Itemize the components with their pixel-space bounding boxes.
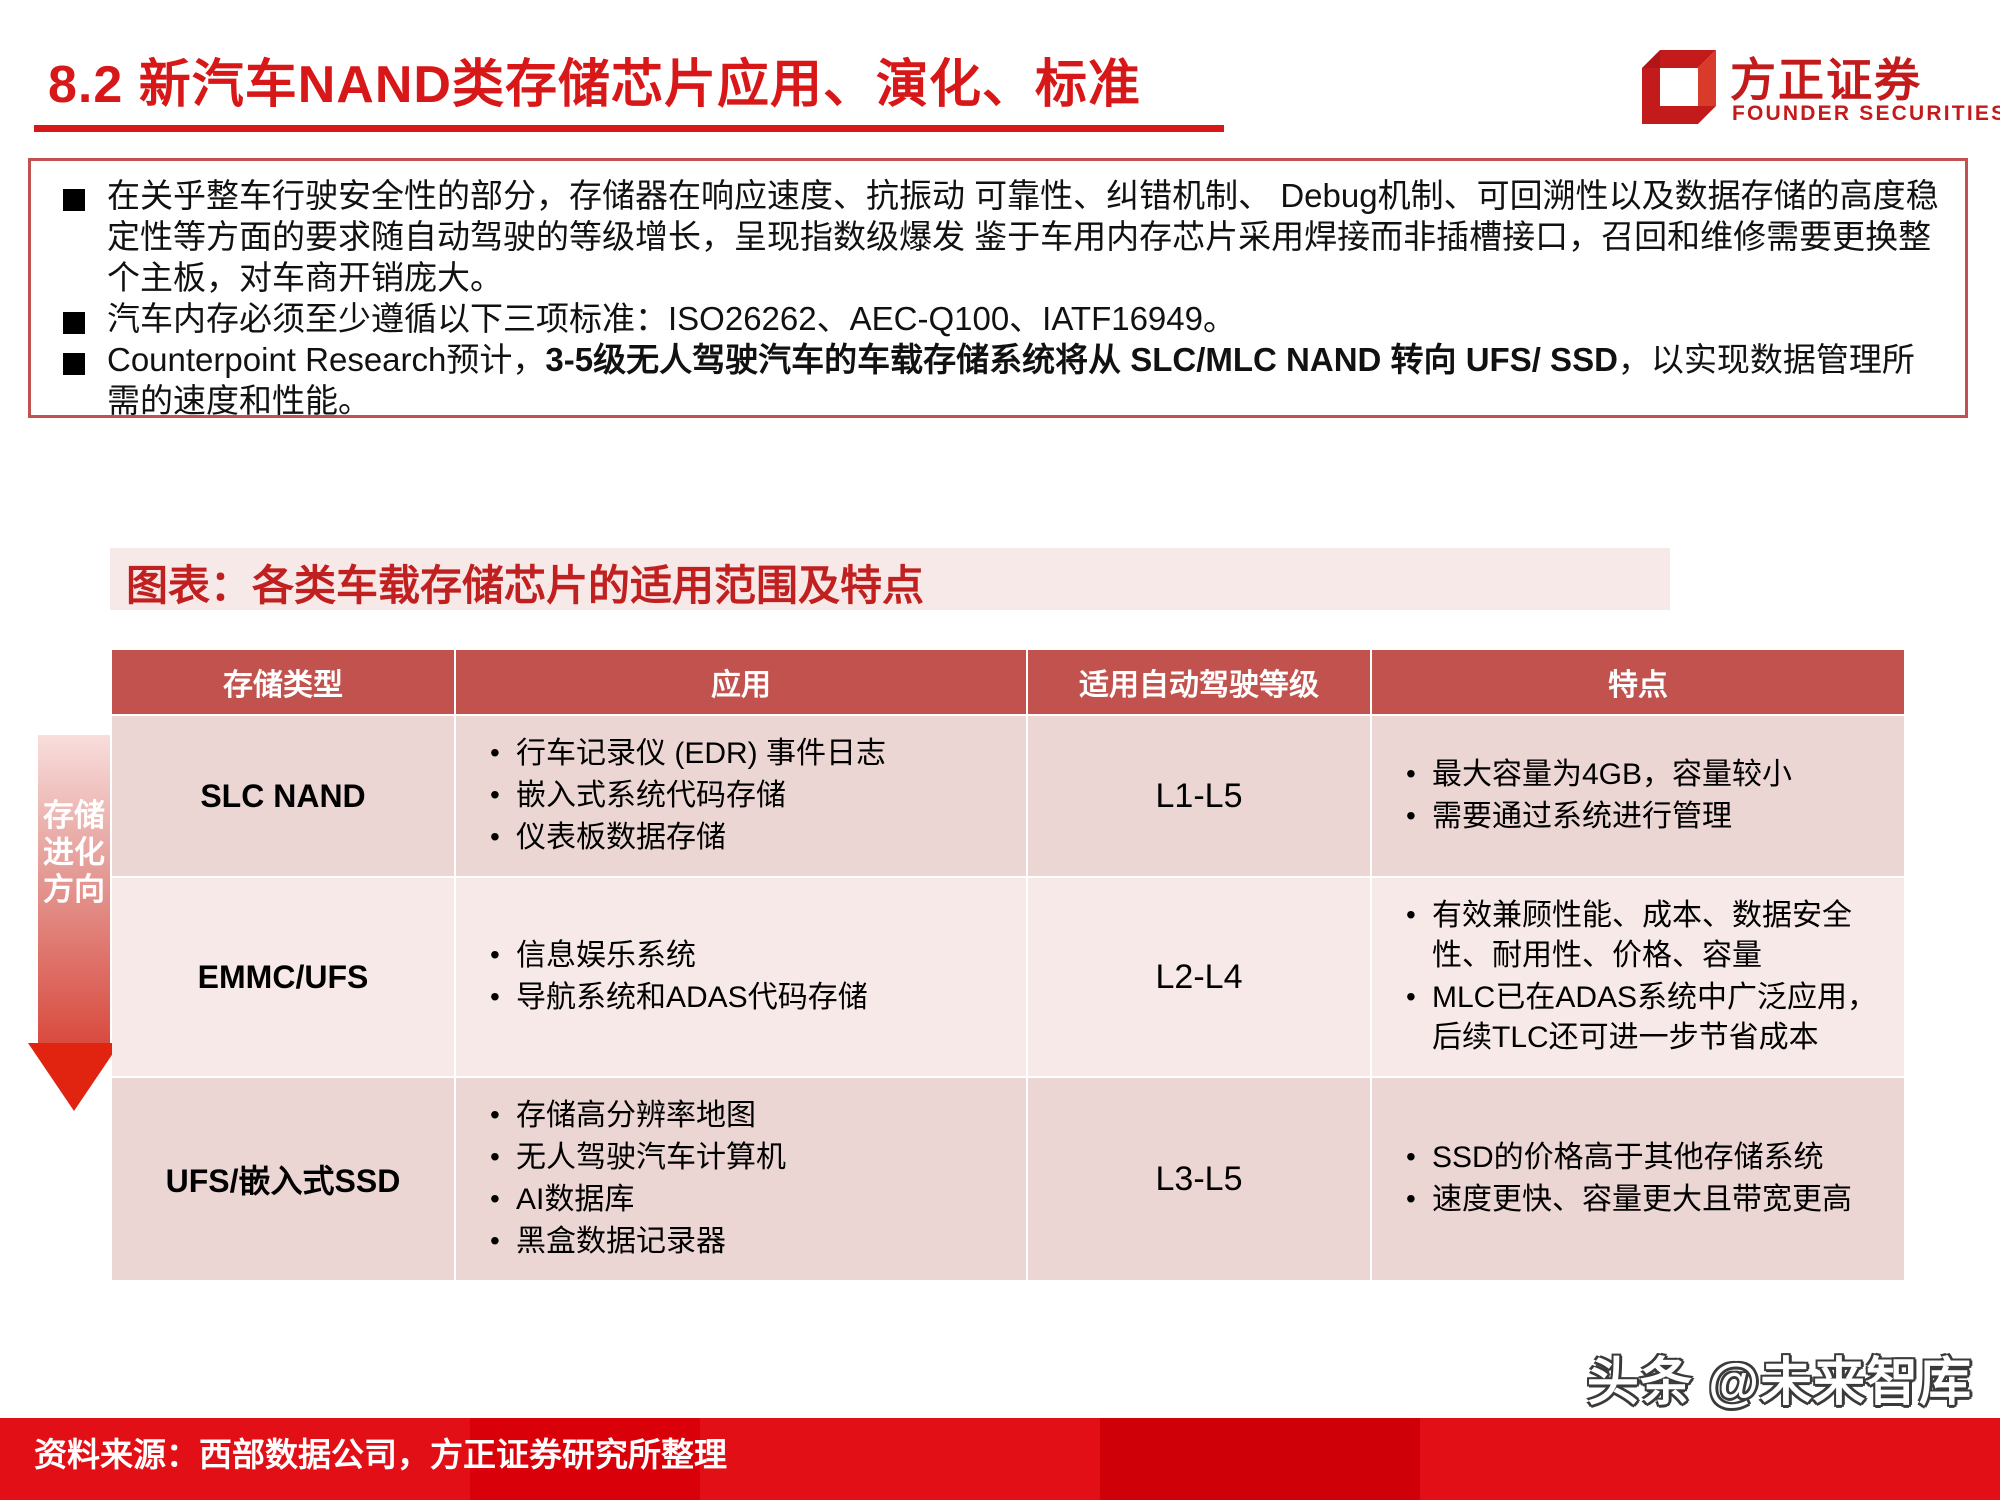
figure-title-banner: 图表：各类车载存储芯片的适用范围及特点 (110, 548, 1670, 610)
list-item: 信息娱乐系统 (490, 936, 1012, 976)
list-item: 需要通过系统进行管理 (1406, 797, 1890, 837)
bullet-item-3: Counterpoint Research预计，3-5级无人驾驶汽车的车载存储系… (49, 339, 1947, 421)
square-bullet-icon (63, 353, 85, 375)
cell-applications: 行车记录仪 (EDR) 事件日志 嵌入式系统代码存储 仪表板数据存储 (456, 716, 1026, 876)
bullet-text-1: 在关乎整车行驶安全性的部分，存储器在响应速度、抗振动 可靠性、纠错机制、 Deb… (107, 175, 1947, 298)
column-header-features: 特点 (1372, 650, 1904, 714)
list-item: 无人驾驶汽车计算机 (490, 1138, 1012, 1178)
cell-storage-type: SLC NAND (112, 716, 454, 876)
logo-chinese-name: 方正证券 (1730, 44, 1922, 110)
column-header-application: 应用 (456, 650, 1026, 714)
list-item: 有效兼顾性能、成本、数据安全性、耐用性、价格、容量 (1406, 896, 1890, 976)
figure-title: 图表：各类车载存储芯片的适用范围及特点 (126, 552, 924, 613)
bullet-text-3: Counterpoint Research预计，3-5级无人驾驶汽车的车载存储系… (107, 339, 1947, 421)
arrow-down-icon (28, 1043, 120, 1111)
bullet-3-lead: Counterpoint Research预计， (107, 341, 545, 378)
list-item: 仪表板数据存储 (490, 818, 1012, 858)
cell-autonomy-level: L1-L5 (1028, 716, 1370, 876)
watermark: 头条 @未来智库 (1587, 1340, 1972, 1415)
cell-features: 有效兼顾性能、成本、数据安全性、耐用性、价格、容量 MLC已在ADAS系统中广泛… (1372, 878, 1904, 1076)
list-item: 嵌入式系统代码存储 (490, 776, 1012, 816)
footer-segment (1100, 1418, 1420, 1500)
cell-applications: 存储高分辨率地图 无人驾驶汽车计算机 AI数据库 黑盒数据记录器 (456, 1078, 1026, 1280)
cell-storage-type: UFS/嵌入式SSD (112, 1078, 454, 1280)
founder-securities-logo: 方正证券 FOUNDER SECURITIES (1642, 44, 1972, 134)
square-bullet-icon (63, 189, 85, 211)
page-title: 8.2 新汽车NAND类存储芯片应用、演化、标准 (48, 42, 1141, 117)
list-item: 导航系统和ADAS代码存储 (490, 978, 1012, 1018)
cell-autonomy-level: L2-L4 (1028, 878, 1370, 1076)
slide-header: 8.2 新汽车NAND类存储芯片应用、演化、标准 方正证券 FOUNDER SE… (0, 0, 2000, 150)
source-note: 资料来源：西部数据公司，方正证券研究所整理 (34, 1428, 727, 1476)
arrow-label: 存储进化方向 (38, 797, 110, 908)
list-item: 行车记录仪 (EDR) 事件日志 (490, 734, 1012, 774)
footer-segment (1420, 1418, 2000, 1500)
list-item: 存储高分辨率地图 (490, 1096, 1012, 1136)
cell-autonomy-level: L3-L5 (1028, 1078, 1370, 1280)
cell-features: 最大容量为4GB，容量较小 需要通过系统进行管理 (1372, 716, 1904, 876)
cell-applications: 信息娱乐系统 导航系统和ADAS代码存储 (456, 878, 1026, 1076)
table-header-row: 存储类型 应用 适用自动驾驶等级 特点 (112, 650, 1904, 714)
slide-root: 8.2 新汽车NAND类存储芯片应用、演化、标准 方正证券 FOUNDER SE… (0, 0, 2000, 1500)
column-header-type: 存储类型 (112, 650, 454, 714)
bullet-3-emphasis: 3-5级无人驾驶汽车的车载存储系统将从 SLC/MLC NAND 转向 UFS/… (545, 341, 1618, 378)
storage-comparison-table: 存储类型 应用 适用自动驾驶等级 特点 SLC NAND 行车记录仪 (EDR)… (110, 648, 1906, 1282)
list-item: MLC已在ADAS系统中广泛应用，后续TLC还可进一步节省成本 (1406, 978, 1890, 1058)
footer-segment (700, 1418, 1100, 1500)
bullet-item-2: 汽车内存必须至少遵循以下三项标准：ISO26262、AEC-Q100、IATF1… (49, 298, 1947, 339)
summary-bullet-box: 在关乎整车行驶安全性的部分，存储器在响应速度、抗振动 可靠性、纠错机制、 Deb… (28, 158, 1968, 418)
cell-features: SSD的价格高于其他存储系统 速度更快、容量更大且带宽更高 (1372, 1078, 1904, 1280)
table-row: EMMC/UFS 信息娱乐系统 导航系统和ADAS代码存储 L2-L4 有效兼顾… (112, 878, 1904, 1076)
logo-mark-icon (1642, 50, 1716, 124)
list-item: AI数据库 (490, 1180, 1012, 1220)
table-row: SLC NAND 行车记录仪 (EDR) 事件日志 嵌入式系统代码存储 仪表板数… (112, 716, 1904, 876)
list-item: SSD的价格高于其他存储系统 (1406, 1138, 1890, 1178)
logo-english-name: FOUNDER SECURITIES (1732, 102, 2000, 126)
table-row: UFS/嵌入式SSD 存储高分辨率地图 无人驾驶汽车计算机 AI数据库 黑盒数据… (112, 1078, 1904, 1280)
list-item: 黑盒数据记录器 (490, 1222, 1012, 1262)
list-item: 最大容量为4GB，容量较小 (1406, 755, 1890, 795)
bullet-text-2: 汽车内存必须至少遵循以下三项标准：ISO26262、AEC-Q100、IATF1… (107, 298, 1236, 339)
storage-evolution-arrow: 存储进化方向 (38, 735, 110, 1115)
column-header-level: 适用自动驾驶等级 (1028, 650, 1370, 714)
list-item: 速度更快、容量更大且带宽更高 (1406, 1180, 1890, 1220)
cell-storage-type: EMMC/UFS (112, 878, 454, 1076)
square-bullet-icon (63, 312, 85, 334)
header-divider (34, 125, 1224, 132)
bullet-item-1: 在关乎整车行驶安全性的部分，存储器在响应速度、抗振动 可靠性、纠错机制、 Deb… (49, 175, 1947, 298)
